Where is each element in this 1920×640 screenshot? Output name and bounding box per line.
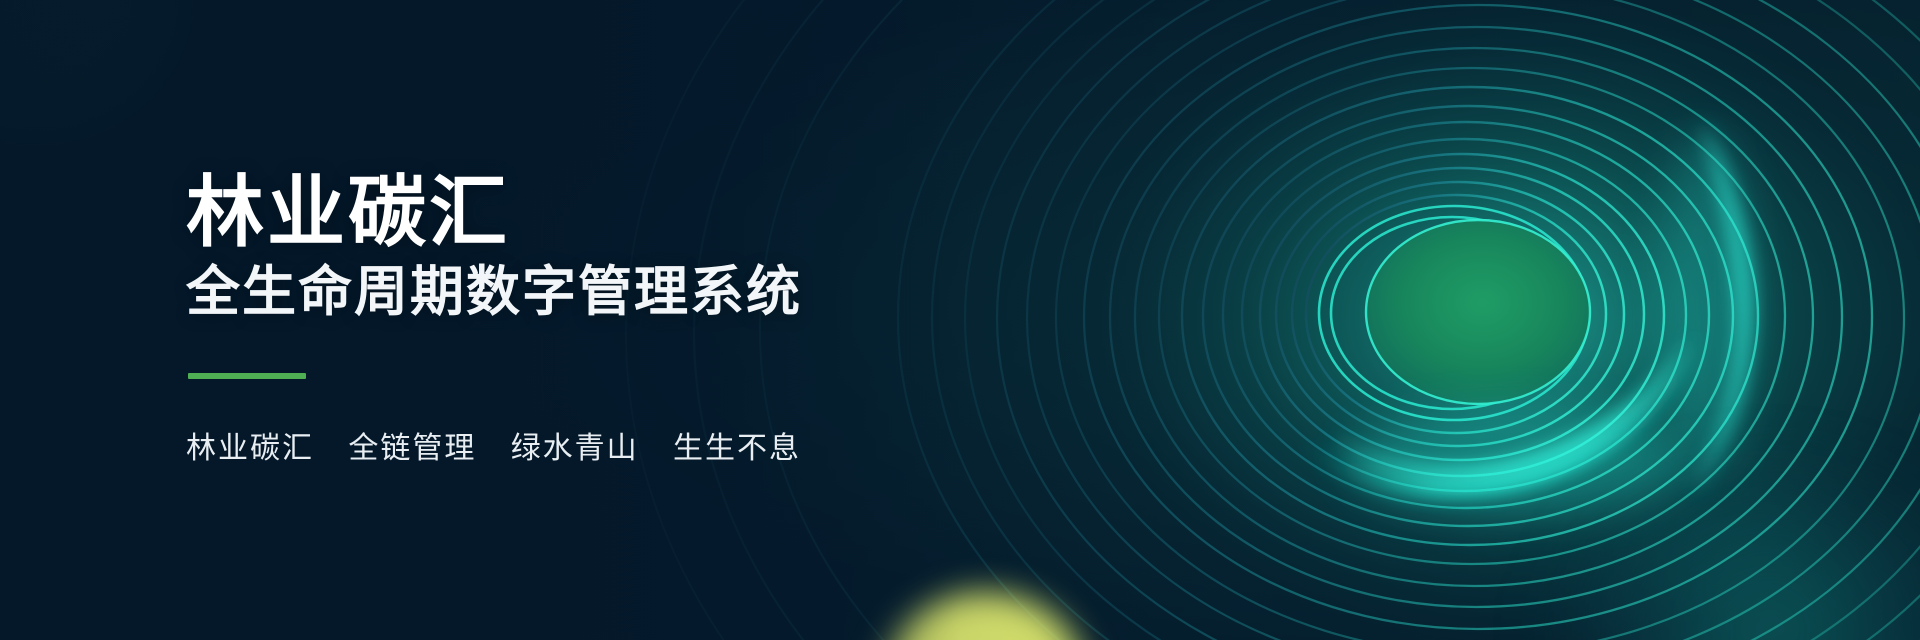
hero-content: 林业碳汇 全生命周期数字管理系统 林业碳汇 全链管理 绿水青山 生生不息 [186, 0, 802, 640]
page-subtitle: 全生命周期数字管理系统 [186, 264, 802, 321]
tagline-segment-4: 生生不息 [673, 432, 801, 465]
tagline-segment-3: 绿水青山 [511, 432, 639, 465]
hero-banner: 林业碳汇 全生命周期数字管理系统 林业碳汇 全链管理 绿水青山 生生不息 [0, 0, 1920, 640]
tagline-segment-2: 全链管理 [348, 432, 476, 465]
tagline-segment-1: 林业碳汇 [186, 432, 314, 465]
accent-divider [188, 373, 306, 379]
tagline: 林业碳汇 全链管理 绿水青山 生生不息 [186, 423, 802, 467]
page-title: 林业碳汇 [186, 173, 802, 253]
